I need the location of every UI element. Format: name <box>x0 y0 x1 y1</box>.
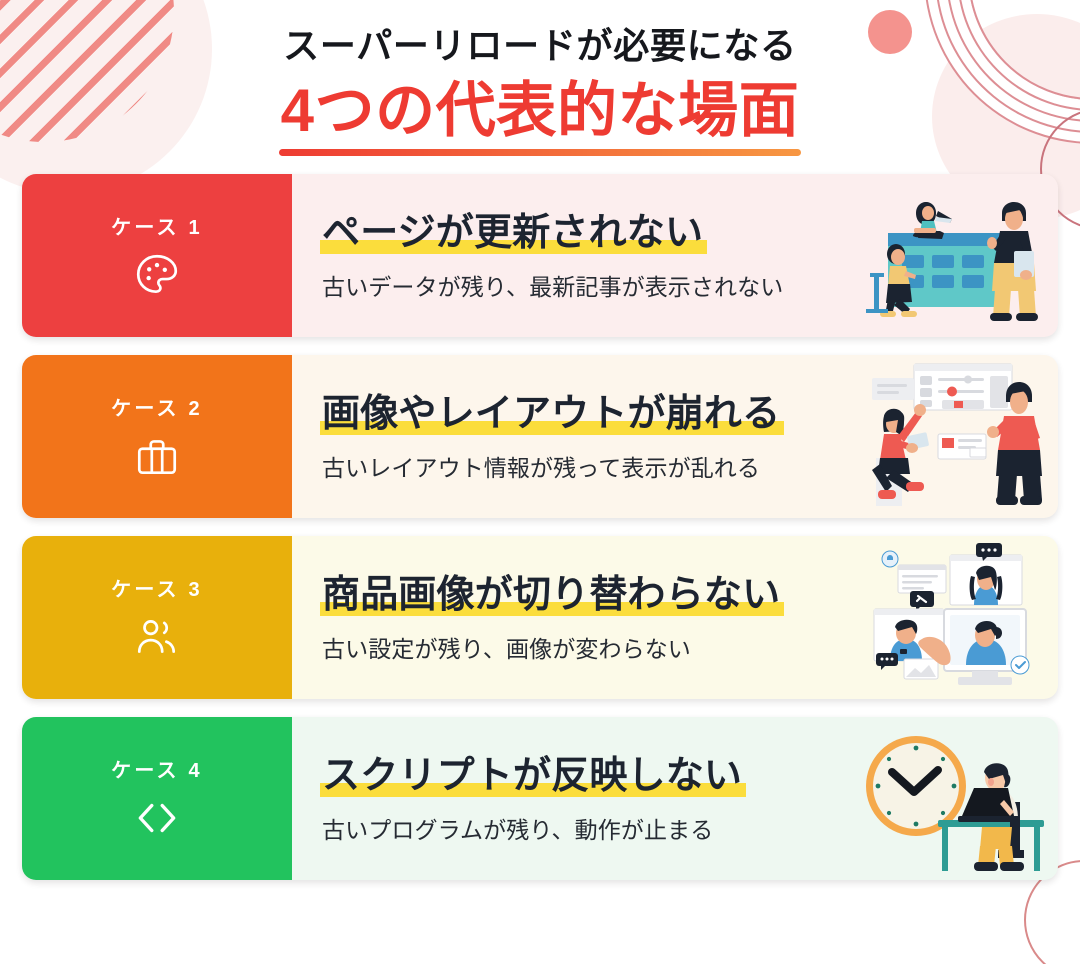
code-brackets-icon <box>132 793 182 843</box>
palette-icon <box>132 250 182 300</box>
case-body: スクリプトが反映しない 古いプログラムが残り、動作が止まる <box>292 717 1058 880</box>
case-badge: ケース 2 <box>22 355 292 518</box>
case-card[interactable]: ケース 4 スクリプトが反映しない 古いプログラムが残り、動作が止まる <box>22 717 1058 880</box>
case-body: 画像やレイアウトが崩れる 古いレイアウト情報が残って表示が乱れる <box>292 355 1058 518</box>
case-title: 画像やレイアウトが崩れる <box>322 391 780 437</box>
case-title-group: スクリプトが反映しない <box>322 753 742 799</box>
video-meeting-illustration <box>854 543 1050 693</box>
headline-group: 4つの代表的な場面 <box>275 76 806 157</box>
case-badge: ケース 4 <box>22 717 292 880</box>
case-body: 商品画像が切り替わらない 古い設定が残り、画像が変わらない <box>292 536 1058 699</box>
wireframe-review-illustration <box>854 362 1050 512</box>
case-badge: ケース 3 <box>22 536 292 699</box>
case-card-list: ケース 1 ページが更新されない 古いデータが残り、最新記事が表示さ <box>22 174 1058 880</box>
case-title-group: 商品画像が切り替わらない <box>322 572 780 618</box>
case-title: 商品画像が切り替わらない <box>322 572 780 618</box>
headline-underline-rule <box>279 149 802 156</box>
case-card[interactable]: ケース 3 商品画像が切り替わらない 古い設定が残り、画像が変わらない <box>22 536 1058 699</box>
calendar-team-illustration <box>854 181 1050 331</box>
case-card[interactable]: ケース 2 画像やレイアウトが崩れる 古いレイアウト情報が残って表示が乱れる <box>22 355 1058 518</box>
page-title: 4つの代表的な場面 <box>281 76 800 147</box>
case-badge-label: ケース 4 <box>111 754 203 783</box>
case-body: ページが更新されない 古いデータが残り、最新記事が表示されない <box>292 174 1058 337</box>
case-badge-label: ケース 3 <box>111 573 203 602</box>
case-title-group: 画像やレイアウトが崩れる <box>322 391 780 437</box>
kicker-text: スーパーリロードが必要になる <box>0 22 1080 70</box>
clock-desk-illustration <box>854 724 1050 874</box>
case-title: スクリプトが反映しない <box>322 753 742 799</box>
case-card[interactable]: ケース 1 ページが更新されない 古いデータが残り、最新記事が表示さ <box>22 174 1058 337</box>
case-badge-label: ケース 1 <box>111 211 203 240</box>
case-badge-label: ケース 2 <box>111 392 203 421</box>
people-icon <box>132 612 182 662</box>
case-title: ページが更新されない <box>322 210 703 256</box>
case-badge: ケース 1 <box>22 174 292 337</box>
infographic-poster: スーパーリロードが必要になる 4つの代表的な場面 ケース 1 <box>0 0 1080 964</box>
poster-header: スーパーリロードが必要になる 4つの代表的な場面 <box>0 0 1080 156</box>
briefcase-icon <box>132 431 182 481</box>
case-title-group: ページが更新されない <box>322 210 703 256</box>
